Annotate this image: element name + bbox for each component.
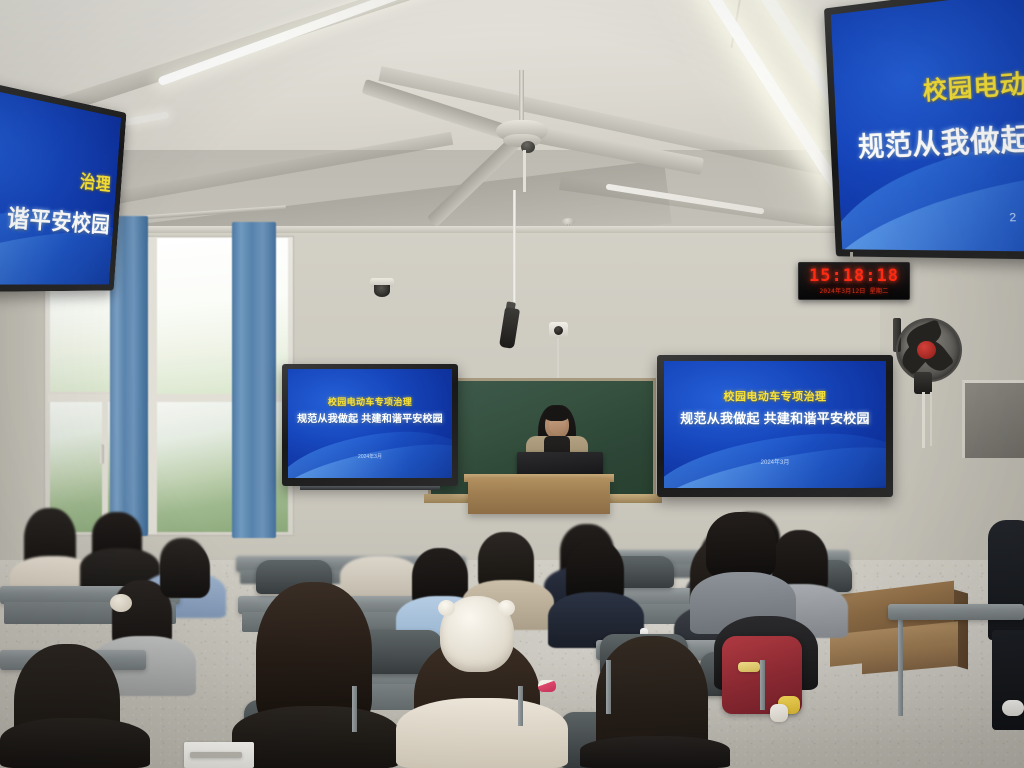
- standing-person: [988, 520, 1024, 640]
- presenter-hair-front: [544, 406, 569, 421]
- desk-leg: [898, 620, 903, 716]
- student-hair: [160, 542, 210, 598]
- student-shoulders: [0, 718, 150, 768]
- student-hair: [706, 512, 776, 578]
- tv-screen: 校园电动车专项治理 规范从我做起 共建和谐平安校园 2024年3月: [664, 361, 886, 488]
- student-shoulders: [580, 736, 730, 768]
- wall-fan-hub: [917, 341, 936, 359]
- tv-mount-bar: [300, 486, 440, 490]
- slide-subtitle-text: 规范从我做起 共建和谐平安校园: [664, 408, 886, 427]
- slide-title-text: 治理: [0, 140, 117, 196]
- wall-fan-motor: [914, 372, 932, 394]
- display-center-right[interactable]: 校园电动车专项治理 规范从我做起 共建和谐平安校园 2024年3月: [657, 355, 893, 497]
- window-mullion: [148, 238, 157, 534]
- slide-date-text: 2024年3月: [288, 453, 452, 460]
- led-wall-clock: 15:18:18 2024年3月12日 星期二: [798, 262, 910, 300]
- backpack-zipper-pull: [738, 662, 760, 672]
- student-shoulders: [396, 698, 568, 768]
- slide-subtitle-text: 规范从我做起: [836, 109, 1024, 166]
- desk-leg: [352, 686, 357, 732]
- display-center-left[interactable]: 校园电动车专项治理 规范从我做起 共建和谐平安校园 2024年3月: [282, 364, 458, 486]
- wall-sensor-lens-icon: [554, 326, 563, 335]
- dome-camera-icon: [374, 285, 390, 297]
- slide-subtitle-text: 规范从我做起 共建和谐平安校园: [288, 410, 452, 425]
- slide-title-text: 校园电动车专项治理: [288, 395, 452, 408]
- desk-leg: [518, 686, 523, 726]
- classroom-scene: 治理 谐平安校园 校园电动 规范从我做起 2 校园电动车专项治理 规范从我做起 …: [0, 0, 1024, 768]
- window-handle[interactable]: [100, 444, 104, 464]
- slide-title-text: 校园电动: [834, 52, 1024, 112]
- fur-hat-ear: [498, 600, 515, 616]
- shoe: [1002, 700, 1024, 716]
- slide-subtitle-text: 谐平安校园: [0, 189, 114, 240]
- slide-date-text: 2: [840, 210, 1024, 225]
- microphone-cable: [513, 190, 516, 308]
- window-curtain[interactable]: [110, 216, 148, 536]
- wall-recess-panel: [962, 380, 1024, 458]
- hair-scrunchie: [110, 594, 132, 612]
- desk-leg: [760, 660, 765, 710]
- ceiling-fan-wire: [523, 150, 526, 192]
- tv-screen: 校园电动车专项治理 规范从我做起 共建和谐平安校园 2024年3月: [288, 369, 452, 478]
- handout-text-line: [190, 752, 242, 758]
- pink-pencil-case[interactable]: [538, 680, 556, 692]
- student-shoulders: [340, 556, 420, 600]
- slide-title-text: 校园电动车专项治理: [664, 388, 886, 404]
- wooden-podium: [468, 478, 610, 514]
- student-shoulders: [232, 706, 400, 768]
- wall-fan-pull-cord[interactable]: [922, 392, 925, 448]
- backpack-charm: [770, 704, 788, 722]
- wall-fan-pull-cord[interactable]: [930, 392, 932, 446]
- clock-time-display: 15:18:18: [799, 266, 909, 286]
- display-top-right[interactable]: 校园电动 规范从我做起 2: [824, 0, 1024, 261]
- window-curtain[interactable]: [232, 222, 276, 538]
- slide-date-text: 2024年3月: [664, 457, 886, 466]
- fur-hat-ear: [438, 600, 455, 616]
- tv-screen: 校园电动 规范从我做起 2: [831, 0, 1024, 253]
- desk-row: [888, 604, 1024, 620]
- desk-leg: [606, 660, 611, 714]
- clock-date-display: 2024年3月12日 星期二: [799, 286, 909, 295]
